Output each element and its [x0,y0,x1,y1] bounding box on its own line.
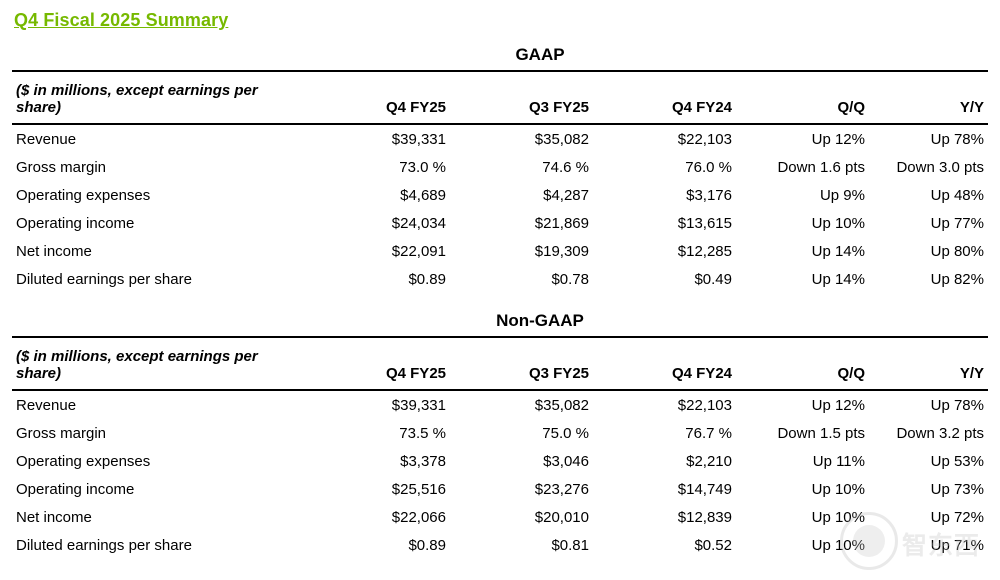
cell-qq: Up 10% [736,503,869,531]
cell-q4fy24: 76.0 % [593,153,736,181]
cell-yy: Down 3.0 pts [869,153,988,181]
cell-q3fy25: $20,010 [450,503,593,531]
cell-q3fy25: $3,046 [450,447,593,475]
column-header-q3fy25: Q3 FY25 [450,71,593,124]
section-title-non-gaap: Non-GAAP [12,311,988,331]
table-row: Operating expenses $4,689 $4,287 $3,176 … [12,181,988,209]
row-label: Diluted earnings per share [12,265,307,293]
cell-q4fy25: $22,091 [307,237,450,265]
row-label: Gross margin [12,419,307,447]
column-header-yy: Y/Y [869,337,988,390]
column-header-units: ($ in millions, except earnings per shar… [12,337,307,390]
table-row: Revenue $39,331 $35,082 $22,103 Up 12% U… [12,124,988,153]
section-divider-space [12,297,988,311]
column-header-q4fy25: Q4 FY25 [307,71,450,124]
table-row: Operating expenses $3,378 $3,046 $2,210 … [12,447,988,475]
cell-q4fy25: $22,066 [307,503,450,531]
cell-q3fy25: $0.78 [450,265,593,293]
cell-q4fy25: $24,034 [307,209,450,237]
cell-qq: Up 14% [736,265,869,293]
section-title-gaap: GAAP [12,45,988,65]
table-row: Gross margin 73.0 % 74.6 % 76.0 % Down 1… [12,153,988,181]
cell-q4fy24: 76.7 % [593,419,736,447]
page-title: Q4 Fiscal 2025 Summary [14,10,988,31]
cell-yy: Up 78% [869,390,988,419]
row-label: Diluted earnings per share [12,531,307,559]
cell-q3fy25: $0.81 [450,531,593,559]
table-row: Operating income $25,516 $23,276 $14,749… [12,475,988,503]
cell-q4fy25: $0.89 [307,531,450,559]
cell-qq: Up 10% [736,531,869,559]
cell-q3fy25: $21,869 [450,209,593,237]
row-label: Revenue [12,124,307,153]
cell-q3fy25: $35,082 [450,124,593,153]
cell-yy: Up 77% [869,209,988,237]
column-header-units: ($ in millions, except earnings per shar… [12,71,307,124]
table-row: Diluted earnings per share $0.89 $0.81 $… [12,531,988,559]
section-non-gaap: Non-GAAP ($ in millions, except earnings… [12,311,988,559]
row-label: Net income [12,503,307,531]
column-header-q3fy25: Q3 FY25 [450,337,593,390]
cell-q4fy24: $2,210 [593,447,736,475]
cell-q3fy25: $4,287 [450,181,593,209]
cell-yy: Up 78% [869,124,988,153]
cell-q4fy24: $13,615 [593,209,736,237]
cell-qq: Up 11% [736,447,869,475]
column-header-q4fy25: Q4 FY25 [307,337,450,390]
cell-q3fy25: $35,082 [450,390,593,419]
cell-yy: Up 72% [869,503,988,531]
column-header-qq: Q/Q [736,337,869,390]
cell-q4fy25: $39,331 [307,124,450,153]
table-row: Net income $22,091 $19,309 $12,285 Up 14… [12,237,988,265]
row-label: Operating income [12,475,307,503]
cell-qq: Up 12% [736,124,869,153]
cell-yy: Up 73% [869,475,988,503]
row-label: Operating expenses [12,447,307,475]
cell-q4fy24: $3,176 [593,181,736,209]
cell-qq: Up 9% [736,181,869,209]
table-header-row: ($ in millions, except earnings per shar… [12,337,988,390]
financial-table-non-gaap: ($ in millions, except earnings per shar… [12,336,988,559]
table-row: Operating income $24,034 $21,869 $13,615… [12,209,988,237]
table-row: Revenue $39,331 $35,082 $22,103 Up 12% U… [12,390,988,419]
table-row: Diluted earnings per share $0.89 $0.78 $… [12,265,988,293]
cell-q4fy24: $22,103 [593,390,736,419]
table-row: Net income $22,066 $20,010 $12,839 Up 10… [12,503,988,531]
section-gaap: GAAP ($ in millions, except earnings per… [12,45,988,293]
row-label: Operating income [12,209,307,237]
table-header-row: ($ in millions, except earnings per shar… [12,71,988,124]
cell-qq: Up 12% [736,390,869,419]
cell-q4fy25: 73.0 % [307,153,450,181]
cell-yy: Up 80% [869,237,988,265]
cell-qq: Up 14% [736,237,869,265]
cell-yy: Up 82% [869,265,988,293]
cell-q4fy25: $25,516 [307,475,450,503]
cell-qq: Down 1.6 pts [736,153,869,181]
financial-table-gaap: ($ in millions, except earnings per shar… [12,70,988,293]
cell-qq: Up 10% [736,475,869,503]
cell-q4fy25: $0.89 [307,265,450,293]
cell-q3fy25: 75.0 % [450,419,593,447]
cell-q3fy25: $19,309 [450,237,593,265]
cell-qq: Up 10% [736,209,869,237]
cell-q4fy24: $12,285 [593,237,736,265]
cell-qq: Down 1.5 pts [736,419,869,447]
row-label: Operating expenses [12,181,307,209]
column-header-q4fy24: Q4 FY24 [593,337,736,390]
cell-q4fy24: $12,839 [593,503,736,531]
document-page: Q4 Fiscal 2025 Summary GAAP ($ in millio… [0,0,1000,580]
row-label: Net income [12,237,307,265]
cell-q4fy25: $39,331 [307,390,450,419]
row-label: Gross margin [12,153,307,181]
cell-yy: Up 48% [869,181,988,209]
column-header-q4fy24: Q4 FY24 [593,71,736,124]
cell-q4fy24: $22,103 [593,124,736,153]
table-row: Gross margin 73.5 % 75.0 % 76.7 % Down 1… [12,419,988,447]
cell-q3fy25: $23,276 [450,475,593,503]
cell-q4fy25: $3,378 [307,447,450,475]
column-header-qq: Q/Q [736,71,869,124]
cell-q4fy24: $0.52 [593,531,736,559]
cell-q4fy25: 73.5 % [307,419,450,447]
cell-q4fy24: $14,749 [593,475,736,503]
cell-yy: Down 3.2 pts [869,419,988,447]
cell-yy: Up 71% [869,531,988,559]
column-header-yy: Y/Y [869,71,988,124]
cell-yy: Up 53% [869,447,988,475]
row-label: Revenue [12,390,307,419]
cell-q3fy25: 74.6 % [450,153,593,181]
cell-q4fy25: $4,689 [307,181,450,209]
cell-q4fy24: $0.49 [593,265,736,293]
